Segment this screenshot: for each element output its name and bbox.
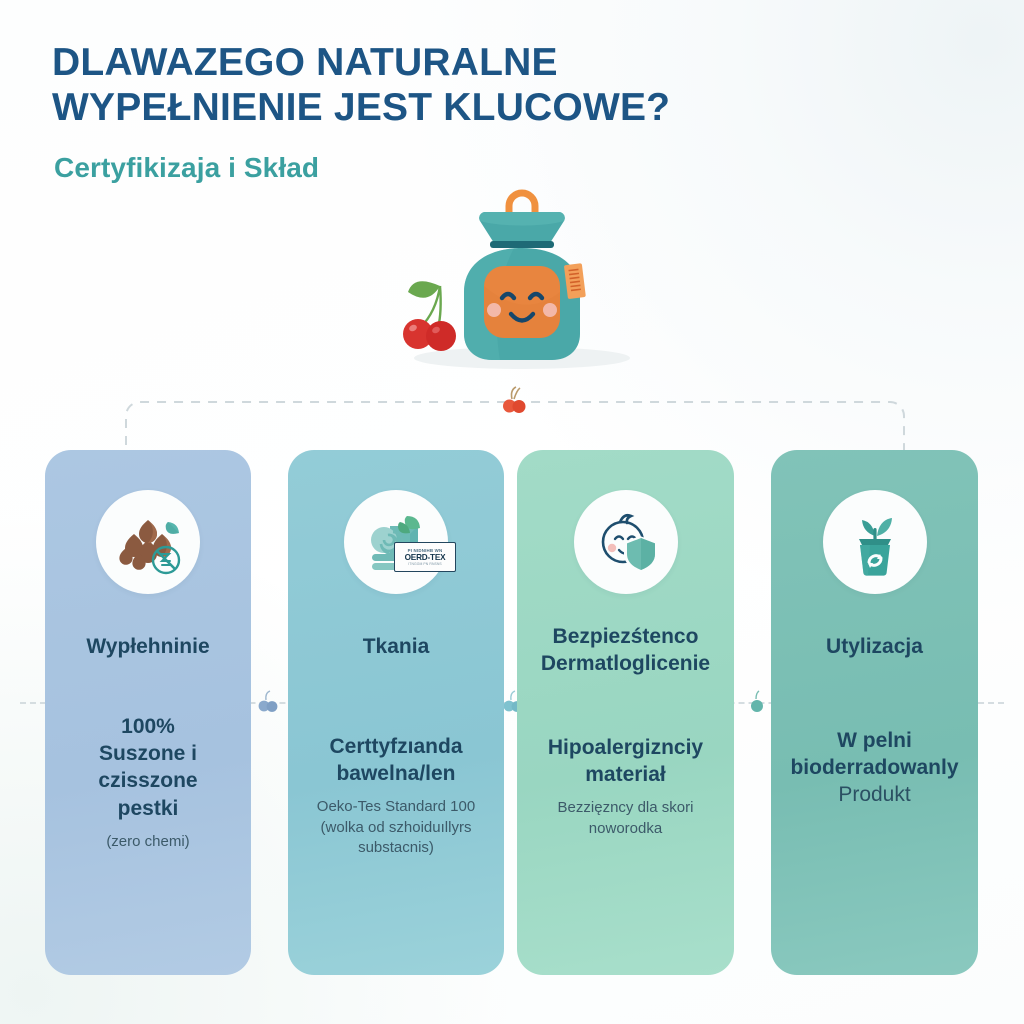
card-heading: Wypłehninie [76,634,219,661]
card-body-secondary: Produkt [826,781,922,808]
card-heading: Tkania [353,634,440,661]
icon-badge: PI NIDNIHB WN OERD-TEX ITNGGM PN RNSNS [344,490,448,594]
page-subtitle: Certyfikizaja i Skład [54,152,319,184]
card-note: Bezzięzncy dla skori noworodka [544,798,708,839]
cert-label-line-main: OERD-TEX [405,553,446,562]
page-title: DLAWAZEGO NATURALNE WYPEŁNIENIE JEST KLU… [52,40,812,130]
icon-badge [574,490,678,594]
card-utylizacja[interactable]: Utylizacja W pelni bioderradowanly Produ… [771,450,978,975]
card-note: Oeko-Tes Standard 100 (wolka od szhoiduı… [303,797,489,858]
card-body: 100% Suszone i czisszone pestki [86,713,209,822]
card-wypelnienie[interactable]: Wypłehninie 100% Suszone i czisszone pes… [45,450,251,975]
card-tkania[interactable]: PI NIDNIHB WN OERD-TEX ITNGGM PN RNSNS T… [288,450,504,975]
folded-fabric-certificate-icon: PI NIDNIHB WN OERD-TEX ITNGGM PN RNSNS [360,506,432,578]
card-heading: Utylizacja [816,634,933,661]
icon-badge [96,490,200,594]
card-bezpieczenstwo-dermatologiczne[interactable]: Bezpiezśtenco Dermatloglicenie Hipoalerg… [517,450,734,975]
icon-badge [823,490,927,594]
recycle-bin-sprout-icon [839,506,911,578]
cherry-icon [744,690,770,714]
hot-water-bottle-with-cherries-illustration [352,186,672,376]
cert-label-line-bottom: ITNGGM PN RNSNS [408,562,442,566]
infographic-canvas: DLAWAZEGO NATURALNE WYPEŁNIENIE JEST KLU… [0,0,1024,1024]
baby-face-shield-icon [590,506,662,578]
cherry-icon [255,690,281,714]
card-body: W pelni bioderradowanly [778,727,970,782]
cherry-icon [497,386,529,416]
oeko-tex-certificate-label: PI NIDNIHB WN OERD-TEX ITNGGM PN RNSNS [394,542,456,572]
cherry-pits-no-chemicals-icon [112,506,184,578]
card-heading: Bezpiezśtenco Dermatloglicenie [531,624,720,678]
card-body: Hipoalergiznciy materiał [536,734,715,789]
card-note: (zero chemi) [92,832,203,852]
card-body: Certtyfzıanda bawelna/len [317,733,474,788]
